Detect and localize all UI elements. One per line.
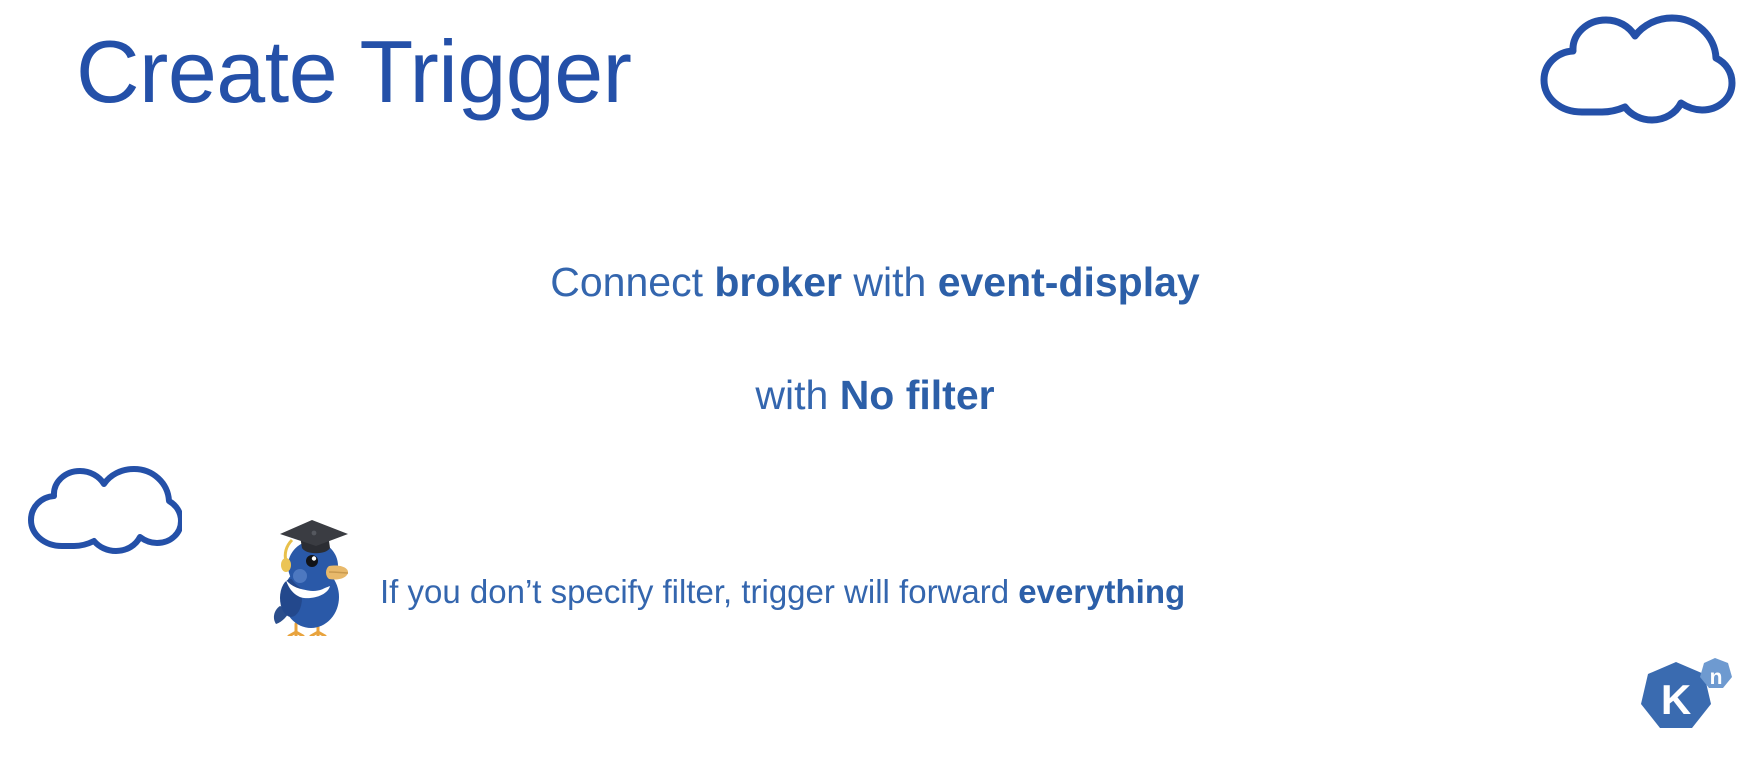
- tip-text-bold-everything: everything: [1018, 573, 1185, 610]
- body-line-2: with No filter: [0, 375, 1750, 416]
- line1-bold-broker: broker: [714, 259, 842, 305]
- body-line-1: Connect broker with event-display: [0, 262, 1750, 303]
- line2-text-with: with: [755, 372, 839, 418]
- line1-text-with: with: [842, 259, 938, 305]
- logo-letter-n: n: [1710, 666, 1723, 689]
- cloud-outline-icon: [22, 464, 182, 556]
- logo-letter-k: K: [1661, 676, 1691, 723]
- slide-root: Create Trigger Connect broker with event…: [0, 0, 1750, 766]
- page-title: Create Trigger: [76, 28, 631, 116]
- line1-text-connect: Connect: [550, 259, 714, 305]
- body-text-block: Connect broker with event-display with N…: [0, 262, 1750, 416]
- graduate-bird-mascot-icon: [272, 514, 350, 636]
- line1-bold-event-display: event-display: [938, 259, 1200, 305]
- tip-text: If you don’t specify filter, trigger wil…: [380, 575, 1185, 608]
- tip-text-regular: If you don’t specify filter, trigger wil…: [380, 573, 1018, 610]
- tip-row: If you don’t specify filter, trigger wil…: [272, 508, 1185, 636]
- cloud-outline-icon: [1530, 8, 1736, 126]
- knative-logo-icon: K n: [1638, 652, 1738, 756]
- line2-bold-no-filter: No filter: [840, 372, 995, 418]
